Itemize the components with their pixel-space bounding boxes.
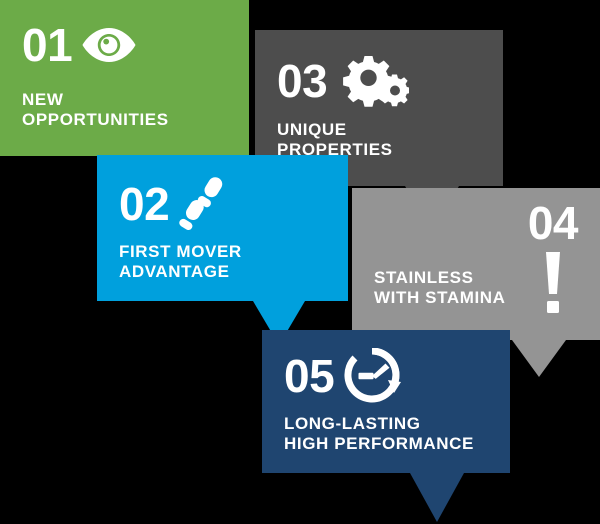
card-05-tail — [410, 473, 464, 522]
card-01-number: 01 — [22, 22, 72, 68]
exclamation-icon — [539, 250, 567, 316]
card-04-number-row: 04 — [528, 200, 578, 316]
eye-icon — [82, 25, 136, 65]
card-02-label: FIRST MOVER ADVANTAGE — [119, 242, 242, 282]
card-03-number-row: 03 — [277, 52, 409, 110]
card-02-first-mover-advantage[interactable]: 02 — [97, 155, 348, 301]
gears-icon — [337, 52, 409, 110]
card-05-number: 05 — [284, 353, 334, 399]
card-04-tail — [512, 340, 566, 377]
card-01-label: NEW OPPORTUNITIES — [22, 90, 169, 130]
card-05-label: LONG-LASTING HIGH PERFORMANCE — [284, 414, 474, 454]
card-04-label: STAINLESS WITH STAMINA — [374, 268, 506, 308]
card-02-number: 02 — [119, 181, 169, 227]
card-01-new-opportunities[interactable]: 01 NEW OPPORTUNITIES — [0, 0, 249, 156]
card-01-number-row: 01 — [22, 22, 136, 68]
card-04-stainless-with-stamina[interactable]: 04 STAINLESS WITH STAMINA — [352, 188, 600, 340]
infographic-canvas: 01 NEW OPPORTUNITIES 03 — [0, 0, 600, 524]
card-04-number: 04 — [528, 200, 578, 246]
clock-arrow-icon — [344, 348, 402, 404]
card-05-long-lasting-high-performance[interactable]: 05 LONG-LASTING HIGH PERFORMANCE — [262, 330, 510, 473]
card-05-number-row: 05 — [284, 348, 402, 404]
card-02-number-row: 02 — [119, 175, 229, 233]
footprints-icon — [179, 175, 229, 233]
card-03-number: 03 — [277, 58, 327, 104]
